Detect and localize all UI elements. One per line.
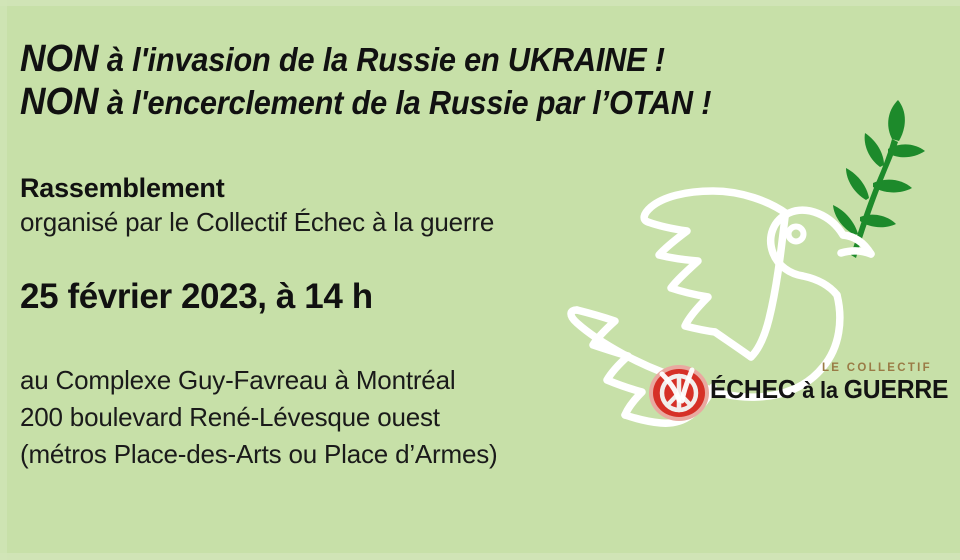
address-line-street: 200 boulevard René-Lévesque ouest [20,399,660,436]
peace-symbol-emblem [648,364,710,422]
date-block: 25 février 2023, à 14 h [20,277,660,317]
poster-text-column: NON à l'invasion de la Russie en UKRAINE… [20,0,660,560]
poster-canvas: NON à l'invasion de la Russie en UKRAINE… [0,0,960,560]
dove-eye-icon [789,227,804,242]
olive-branch-icon [833,100,925,258]
left-edge-band [0,0,7,560]
address-line-venue: au Complexe Guy-Favreau à Montréal [20,362,660,399]
address-block: au Complexe Guy-Favreau à Montréal 200 b… [20,362,660,473]
logo-main-echec: ÉCHEC [710,374,802,404]
headline-line-1: NON à l'invasion de la Russie en UKRAINE… [20,38,615,81]
event-organizer: organisé par le Collectif Échec à la gue… [20,205,660,239]
logo-main-text: ÉCHEC à la GUERRE [710,375,927,405]
logo-wordmark: LE COLLECTIF ÉCHEC à la GUERRE [710,362,938,405]
headline-block: NON à l'invasion de la Russie en UKRAINE… [20,38,660,124]
headline-2-lead: NON [20,81,99,123]
logo-main-a-la: à la [802,377,844,403]
headline-2-rest: à l'encerclement de la Russie par l’OTAN… [99,84,712,121]
collectif-echec-a-la-guerre-logo: LE COLLECTIF ÉCHEC à la GUERRE [648,352,938,424]
event-block: Rassemblement organisé par le Collectif … [20,172,660,239]
headline-1-rest: à l'invasion de la Russie en UKRAINE ! [99,41,665,78]
event-title: Rassemblement [20,172,660,205]
logo-main-guerre: GUERRE [844,374,949,404]
headline-line-2: NON à l'encerclement de la Russie par l’… [20,81,615,124]
event-date-time: 25 février 2023, à 14 h [20,277,660,317]
address-line-transit: (métros Place-des-Arts ou Place d’Armes) [20,436,660,473]
headline-1-lead: NON [20,38,99,80]
